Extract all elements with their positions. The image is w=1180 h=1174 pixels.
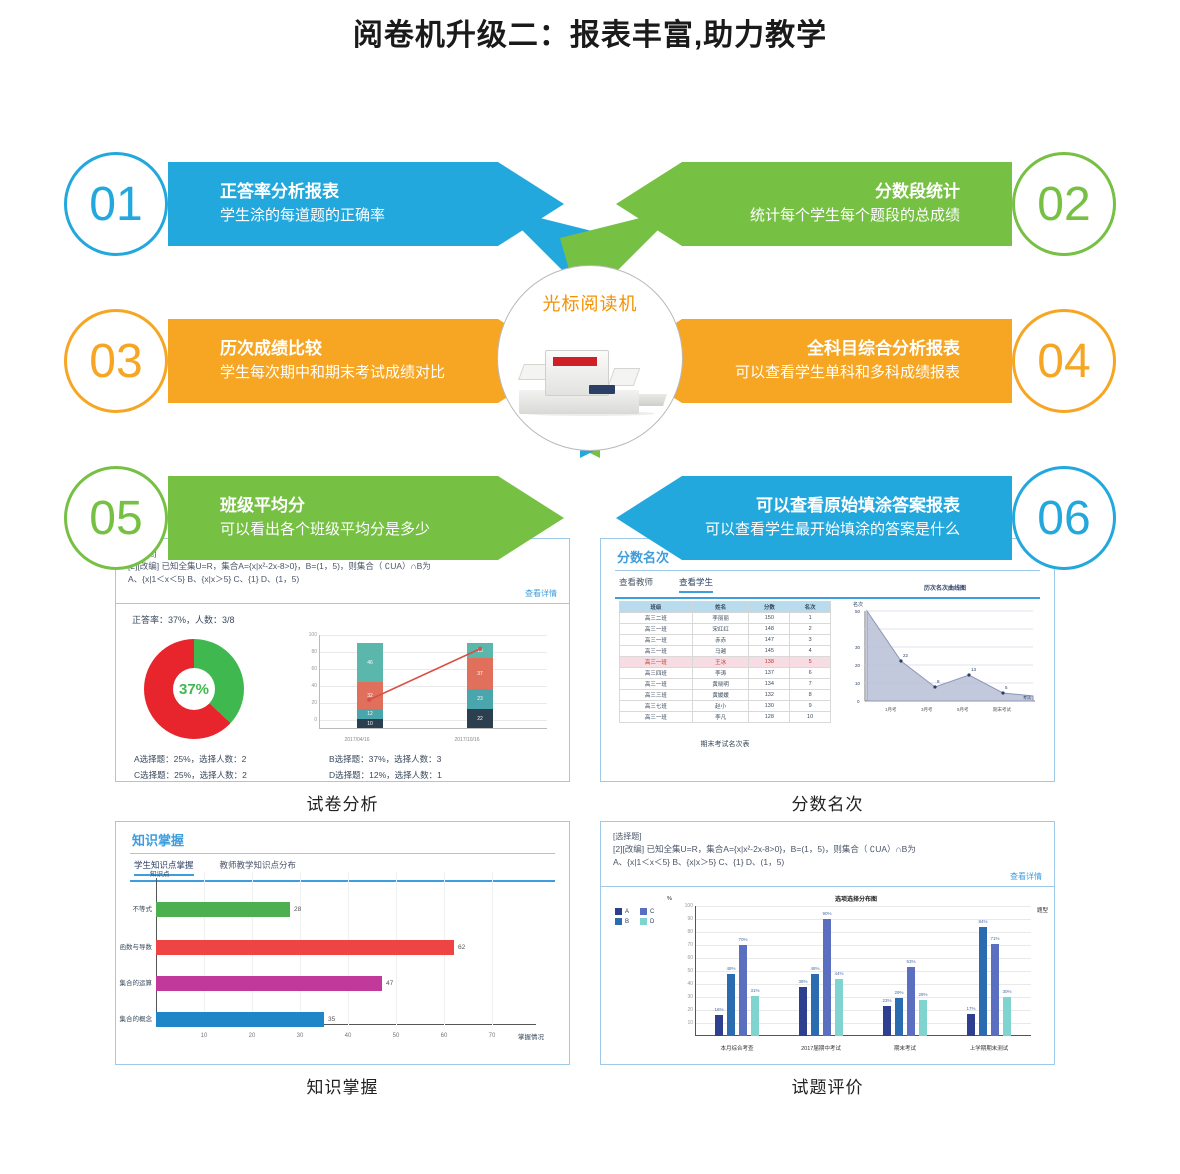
trend-line (319, 635, 547, 719)
feature-number-01: 01 (64, 152, 168, 256)
rank-area-chart: 名次 50 30 20 10 0 (847, 597, 1043, 727)
question-tag-2: [选择题] (613, 830, 1042, 843)
question-stem-2: [2][改编] 已知全集U=R，集合A={x|x²-2x-8>0}，B=(1，5… (613, 843, 1042, 856)
feature-item-03[interactable]: 03 历次成绩比较 学生每次期中和期末考试成绩对比 (64, 301, 564, 421)
grouped-bar-ylabel: % (667, 896, 672, 902)
table-row[interactable]: 高三二班李丽丽1501 (620, 613, 831, 624)
report-screenshots: [选择题] [2][改编] 已知全集U=R，集合A={x|x²-2x-8>0}，… (0, 528, 1180, 1168)
panel-exam-analysis: [选择题] [2][改编] 已知全集U=R，集合A={x|x²-2x-8>0}，… (115, 538, 570, 815)
panel-knowledge: 知识掌握 学生知识点掌握 教师教学知识点分布 知识点 不等式 (115, 821, 570, 1098)
col-class: 班级 (620, 602, 693, 613)
feature-title-05: 班级平均分 (220, 494, 564, 518)
panel-knowledge-shot: 知识掌握 学生知识点掌握 教师教学知识点分布 知识点 不等式 (115, 821, 570, 1065)
hbar-item[interactable]: 不等式 28 (156, 902, 301, 917)
page-title: 阅卷机升级二：报表丰富,助力教学 (0, 0, 1180, 58)
feature-title-04: 全科目综合分析报表 (807, 337, 960, 361)
view-detail-link-2[interactable]: 查看详情 (1010, 870, 1042, 883)
panel-caption-4: 试题评价 (600, 1073, 1055, 1098)
feature-number-06: 06 (1012, 466, 1116, 570)
knowledge-hbar-chart: 知识点 不等式 28 函数与导数 62 (156, 872, 536, 1047)
table-row[interactable]: 高三三班黄媛媛1328 (620, 690, 831, 701)
center-node: 光标阅读机 (497, 265, 683, 451)
panel-score-rank: 分数名次 查看教师 查看学生 班级 姓名 分数 名次 高三二班李丽丽1501 (600, 538, 1055, 815)
feature-diagram: 光标阅读机 01 正答率分析报表 学生涂的每道题的正确率 02 分数段统计 统计… (0, 58, 1180, 528)
tab-view-student[interactable]: 查看学生 (679, 576, 713, 593)
hbar-ylabel: 知识点 (150, 868, 170, 878)
legend-d: D选择题：12%，选择人数：1 (329, 767, 524, 782)
svg-text:0: 0 (857, 699, 860, 704)
feature-item-01[interactable]: 01 正答率分析报表 学生涂的每道题的正确率 (64, 144, 564, 264)
panel-item-evaluation-shot: [选择题] [2][改编] 已知全集U=R，集合A={x|x²-2x-8>0}，… (600, 821, 1055, 1065)
feature-sub-02: 统计每个学生每个题段的总成绩 (750, 204, 960, 228)
svg-text:30: 30 (855, 645, 861, 650)
tab-view-teacher[interactable]: 查看教师 (619, 576, 653, 593)
hbar-item[interactable]: 集合的概念 35 (156, 1012, 335, 1027)
feature-item-06[interactable]: 06 可以查看原始填涂答案报表 可以查看学生最开始填涂的答案是什么 (616, 458, 1116, 578)
table-row[interactable]: 高三一班赤赤1473 (620, 635, 831, 646)
knowledge-header: 知识掌握 (116, 822, 569, 849)
svg-text:10: 10 (855, 681, 861, 686)
feature-sub-05: 可以看出各个班级平均分是多少 (220, 518, 564, 542)
feature-item-04[interactable]: 04 全科目综合分析报表 可以查看学生单科和多科成绩报表 (616, 301, 1116, 421)
svg-text:1月考: 1月考 (885, 707, 897, 713)
table-row[interactable]: 高三一班王冰1385 (620, 657, 831, 668)
table-row[interactable]: 高三一班马越1454 (620, 646, 831, 657)
svg-text:名次: 名次 (853, 601, 863, 608)
svg-text:5: 5 (1005, 685, 1008, 690)
col-rank: 名次 (790, 602, 831, 613)
svg-text:期末考试: 期末考试 (993, 706, 1011, 713)
svg-text:考试: 考试 (1023, 694, 1031, 700)
svg-text:20: 20 (855, 663, 861, 668)
feature-sub-04: 可以查看学生单科和多科成绩报表 (735, 361, 960, 385)
question-box-2: [选择题] [2][改编] 已知全集U=R，集合A={x|x²-2x-8>0}，… (601, 822, 1054, 887)
feature-banner-01: 正答率分析报表 学生涂的每道题的正确率 (168, 162, 564, 246)
hbar-item[interactable]: 函数与导数 62 (156, 940, 465, 955)
feature-banner-02: 分数段统计 统计每个学生每个题段的总成绩 (616, 162, 1012, 246)
panel-item-evaluation: [选择题] [2][改编] 已知全集U=R，集合A={x|x²-2x-8>0}，… (600, 821, 1055, 1098)
grouped-bar-xlabel: 题型 (1037, 906, 1048, 914)
panel-caption-2: 分数名次 (600, 790, 1055, 815)
legend-b: B选择题：37%，选择人数：3 (329, 751, 524, 767)
option-series-legend: A C B D (615, 908, 654, 928)
svg-text:5月考: 5月考 (957, 707, 969, 713)
rank-curve-title: 历次名次曲线图 (847, 583, 1043, 592)
hbar-item[interactable]: 集合的运算 47 (156, 976, 393, 991)
answer-donut-chart: 37% (144, 639, 252, 747)
col-score: 分数 (749, 602, 790, 613)
panel-caption-3: 知识掌握 (115, 1073, 570, 1098)
score-rank-table: 班级 姓名 分数 名次 高三二班李丽丽1501 高三一班宋红红1482 高三一班… (619, 601, 831, 723)
table-row[interactable]: 高三一班李凡12810 (620, 712, 831, 723)
feature-banner-05: 班级平均分 可以看出各个班级平均分是多少 (168, 476, 564, 560)
table-row[interactable]: 高三四班李涛1376 (620, 668, 831, 679)
svg-text:3月考: 3月考 (921, 707, 933, 713)
table-row[interactable]: 高三一班黄晓明1347 (620, 679, 831, 690)
feature-number-04: 04 (1012, 309, 1116, 413)
grouped-bar-title: 选项选择分布图 (681, 894, 1031, 903)
feature-item-05[interactable]: 05 班级平均分 可以看出各个班级平均分是多少 (64, 458, 564, 578)
table-caption: 期末考试名次表 (619, 739, 831, 749)
feature-title-06: 可以查看原始填涂答案报表 (756, 494, 960, 518)
option-grouped-bar-chart: 100 90 80 70 60 50 40 30 20 10 16% 48% 7… (681, 906, 1031, 1056)
svg-text:50: 50 (855, 609, 861, 614)
table-row[interactable]: 高三一班宋红红1482 (620, 624, 831, 635)
panel-caption-1: 试卷分析 (115, 790, 570, 815)
view-detail-link-1[interactable]: 查看详情 (525, 587, 557, 600)
legend-a: A选择题：25%，选择人数：2 (134, 751, 329, 767)
center-label: 光标阅读机 (543, 290, 638, 316)
scanner-machine-icon (515, 330, 665, 416)
feature-title-01: 正答率分析报表 (220, 180, 564, 204)
table-row[interactable]: 高三七班赵小1309 (620, 701, 831, 712)
feature-number-02: 02 (1012, 152, 1116, 256)
svg-text:22: 22 (903, 653, 909, 658)
feature-banner-06: 可以查看原始填涂答案报表 可以查看学生最开始填涂的答案是什么 (616, 476, 1012, 560)
feature-item-02[interactable]: 02 分数段统计 统计每个学生每个题段的总成绩 (616, 144, 1116, 264)
svg-text:13: 13 (971, 667, 977, 672)
col-name: 姓名 (692, 602, 749, 613)
feature-title-02: 分数段统计 (875, 180, 960, 204)
legend-c: C选择题：25%，选择人数：2 (134, 767, 329, 782)
feature-number-03: 03 (64, 309, 168, 413)
feature-sub-06: 可以查看学生最开始填涂的答案是什么 (705, 518, 960, 542)
question-options-2: A、{x|1＜x＜5} B、{x|x＞5} C、{1} D、(1，5) (613, 856, 1042, 869)
donut-center-label: 37% (173, 668, 215, 710)
option-legend: A选择题：25%，选择人数：2 B选择题：37%，选择人数：3 C选择题：25%… (134, 751, 554, 782)
score-stacked-bar-chart: 100 80 60 40 20 0 46 32 12 10 18 37 (301, 635, 551, 747)
feature-number-05: 05 (64, 466, 168, 570)
hbar-xlabel: 掌握情况 (518, 1031, 544, 1041)
correct-rate-line: 正答率：37%，人数：3/8 (116, 604, 569, 626)
feature-sub-01: 学生涂的每道题的正确率 (220, 204, 564, 228)
